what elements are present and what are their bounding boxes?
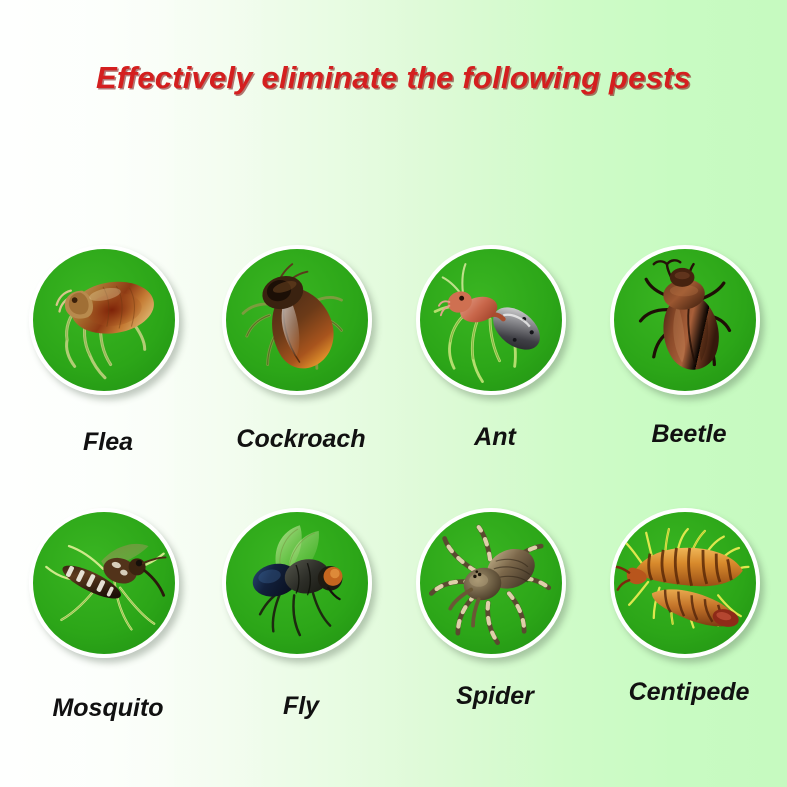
beetle-icon xyxy=(614,249,756,391)
pest-disc xyxy=(416,245,566,395)
pest-card-beetle[interactable]: Beetle xyxy=(591,245,787,475)
pest-label: Mosquito xyxy=(10,694,206,723)
pest-disc-wrap xyxy=(29,245,187,403)
pest-disc xyxy=(29,508,179,658)
pest-disc-wrap xyxy=(222,508,380,666)
pest-card-spider[interactable]: Spider xyxy=(397,508,593,738)
centipede-icon xyxy=(614,512,756,654)
ant-icon xyxy=(420,249,562,391)
pest-disc xyxy=(222,508,372,658)
pest-disc xyxy=(29,245,179,395)
pest-card-ant[interactable]: Ant xyxy=(397,245,593,475)
pest-row-2: Mosquito xyxy=(0,508,787,738)
spider-icon xyxy=(420,512,562,654)
pest-card-cockroach[interactable]: Cockroach xyxy=(203,245,399,475)
fly-icon xyxy=(226,512,368,654)
pest-label: Spider xyxy=(397,682,593,711)
pest-label: Fly xyxy=(203,692,399,721)
pest-disc-wrap xyxy=(610,508,768,666)
pest-row-1: Flea xyxy=(0,245,787,475)
pest-label: Cockroach xyxy=(203,425,399,454)
pest-disc-wrap xyxy=(29,508,187,666)
page-title: Effectively eliminate the following pest… xyxy=(0,60,787,96)
pest-card-centipede[interactable]: Centipede xyxy=(591,508,787,738)
pest-poster: Effectively eliminate the following pest… xyxy=(0,0,787,787)
pest-disc xyxy=(610,245,760,395)
pest-disc xyxy=(610,508,760,658)
pest-card-flea[interactable]: Flea xyxy=(10,245,206,475)
pest-label: Beetle xyxy=(591,420,787,449)
pest-card-fly[interactable]: Fly xyxy=(203,508,399,738)
pest-disc-wrap xyxy=(610,245,768,403)
mosquito-icon xyxy=(33,512,175,654)
pest-disc-wrap xyxy=(222,245,380,403)
pest-card-mosquito[interactable]: Mosquito xyxy=(10,508,206,738)
pest-disc xyxy=(222,245,372,395)
pest-disc-wrap xyxy=(416,245,574,403)
pest-disc-wrap xyxy=(416,508,574,666)
flea-icon xyxy=(33,249,175,391)
cockroach-icon xyxy=(226,249,368,391)
pest-label: Flea xyxy=(10,428,206,457)
pest-disc xyxy=(416,508,566,658)
pest-label: Centipede xyxy=(591,678,787,707)
pest-label: Ant xyxy=(397,423,593,452)
